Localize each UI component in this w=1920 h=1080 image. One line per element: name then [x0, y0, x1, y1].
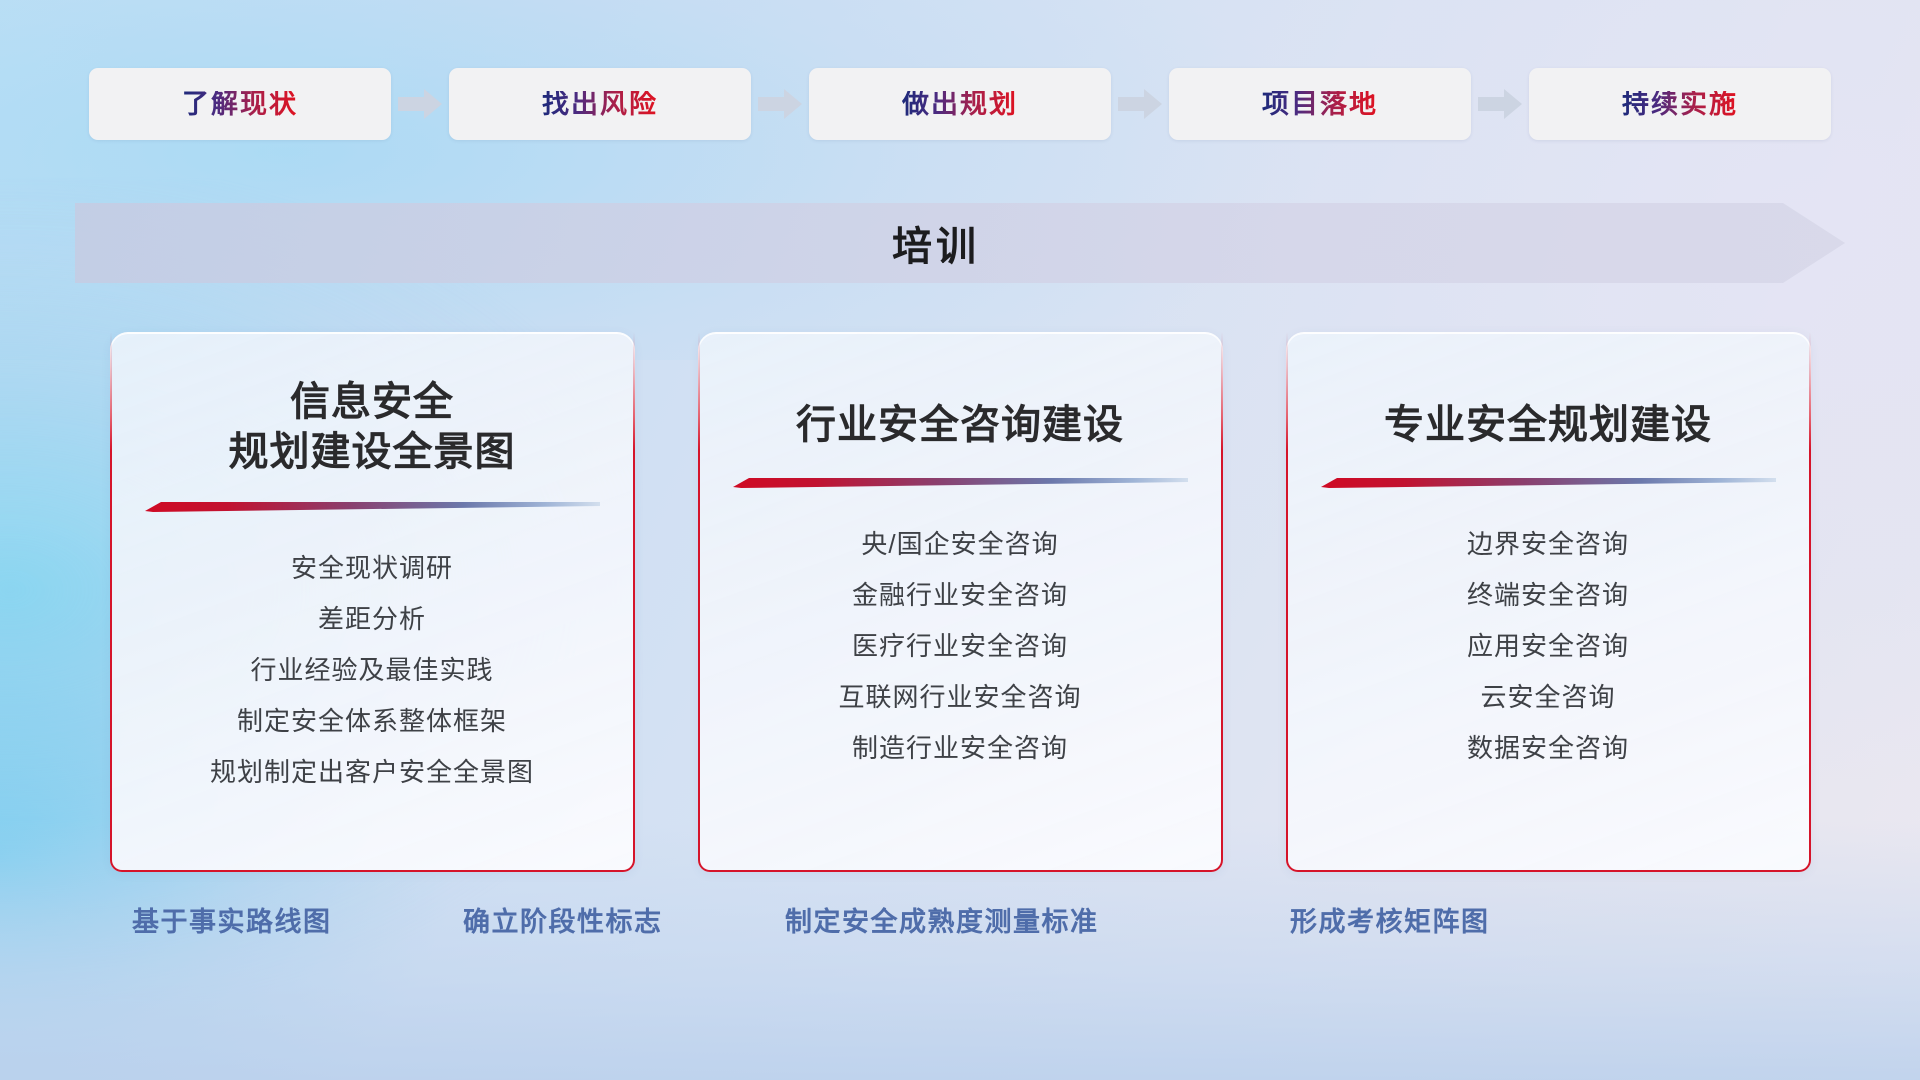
training-banner: 培训 — [75, 203, 1845, 283]
card-row: 信息安全 规划建设全景图 — [0, 332, 1920, 872]
process-step-5[interactable]: 持续实施 — [1529, 68, 1831, 140]
process-step-4-label: 项目落地 — [1262, 91, 1378, 118]
card-list-item: 金融行业安全咨询 — [852, 574, 1068, 617]
process-step-1-label: 了解现状 — [182, 91, 298, 118]
caption-4: 形成考核矩阵图 — [1290, 900, 1490, 939]
card-list-item: 互联网行业安全咨询 — [838, 676, 1081, 719]
card-title-line-1: 专业安全规划建设 — [1384, 400, 1712, 450]
step-arrow-icon-4 — [1478, 89, 1522, 119]
step-arrow-icon-1 — [398, 89, 442, 119]
card-list-item: 数据安全咨询 — [1467, 727, 1629, 770]
card-title-line-1: 信息安全 — [229, 377, 516, 427]
process-step-4[interactable]: 项目落地 — [1169, 68, 1471, 140]
card-information-security-blueprint[interactable]: 信息安全 规划建设全景图 — [110, 332, 635, 872]
card-professional-security-planning[interactable]: 专业安全规划建设 — [1286, 332, 1811, 872]
card-list-item: 制定安全体系整体框架 — [237, 700, 507, 743]
process-step-1[interactable]: 了解现状 — [89, 68, 391, 140]
card-title: 信息安全 规划建设全景图 — [229, 377, 516, 477]
step-arrow-icon-2 — [758, 89, 802, 119]
card-list-item: 制造行业安全咨询 — [852, 727, 1068, 770]
card-list-item: 应用安全咨询 — [1467, 625, 1629, 668]
card-list-item: 云安全咨询 — [1480, 676, 1615, 719]
card-divider-icon — [145, 499, 600, 513]
step-arrow-icon-3 — [1118, 89, 1162, 119]
process-step-2[interactable]: 找出风险 — [449, 68, 751, 140]
card-title: 专业安全规划建设 — [1384, 400, 1712, 450]
process-step-5-label: 持续实施 — [1622, 91, 1738, 118]
card-item-list: 央/国企安全咨询 金融行业安全咨询 医疗行业安全咨询 互联网行业安全咨询 制造行… — [838, 523, 1081, 769]
banner-title: 培训 — [75, 203, 1845, 283]
card-content: 信息安全 规划建设全景图 — [110, 332, 635, 872]
card-divider-icon — [733, 475, 1188, 489]
caption-2: 确立阶段性标志 — [463, 900, 663, 939]
process-step-row: 了解现状 找出风险 做出规划 项目落地 持续实施 — [0, 68, 1920, 140]
process-step-3-label: 做出规划 — [902, 91, 1018, 118]
card-item-list: 边界安全咨询 终端安全咨询 应用安全咨询 云安全咨询 数据安全咨询 — [1467, 523, 1629, 769]
card-item-list: 安全现状调研 差距分析 行业经验及最佳实践 制定安全体系整体框架 规划制定出客户… — [210, 547, 534, 793]
caption-row: 基于事实路线图 确立阶段性标志 制定安全成熟度测量标准 形成考核矩阵图 — [0, 900, 1920, 960]
card-industry-security-consulting[interactable]: 行业安全咨询建设 — [698, 332, 1223, 872]
card-list-item: 医疗行业安全咨询 — [852, 625, 1068, 668]
card-list-item: 边界安全咨询 — [1467, 523, 1629, 566]
card-title: 行业安全咨询建设 — [796, 400, 1124, 450]
card-list-item: 安全现状调研 — [291, 547, 453, 590]
card-content: 专业安全规划建设 — [1286, 332, 1811, 872]
card-list-item: 行业经验及最佳实践 — [250, 649, 493, 692]
card-list-item: 差距分析 — [318, 598, 426, 641]
card-divider-icon — [1321, 475, 1776, 489]
slide-stage: 了解现状 找出风险 做出规划 项目落地 持续实施 培训 — [0, 0, 1920, 1080]
caption-1: 基于事实路线图 — [132, 900, 332, 939]
card-title-line-1: 行业安全咨询建设 — [796, 400, 1124, 450]
card-content: 行业安全咨询建设 — [698, 332, 1223, 872]
process-step-3[interactable]: 做出规划 — [809, 68, 1111, 140]
card-list-item: 央/国企安全咨询 — [861, 523, 1058, 566]
process-step-2-label: 找出风险 — [542, 91, 658, 118]
card-list-item: 规划制定出客户安全全景图 — [210, 751, 534, 794]
card-list-item: 终端安全咨询 — [1467, 574, 1629, 617]
caption-3: 制定安全成熟度测量标准 — [785, 900, 1099, 939]
card-title-line-2: 规划建设全景图 — [229, 427, 516, 477]
